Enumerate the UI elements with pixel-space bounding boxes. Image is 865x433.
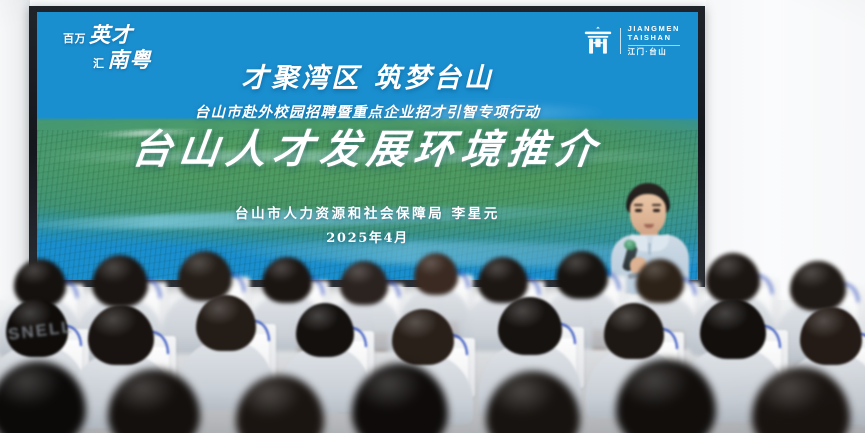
audience: SNELL bbox=[0, 243, 865, 433]
slide-content: 百万 英才 汇 南粤 bbox=[37, 12, 698, 280]
presenter-eye-right bbox=[653, 209, 660, 212]
presentation-photo-scene: 百万 英才 汇 南粤 bbox=[0, 0, 865, 433]
presenter-face bbox=[630, 194, 666, 234]
brand-logo: JIANGMEN TAISHAN 江门·台山 bbox=[583, 25, 680, 57]
audience-member-head bbox=[616, 359, 716, 433]
presenter-brow-left bbox=[634, 204, 643, 206]
slide-calligraphy-title: 台山人才发展环境推介 bbox=[37, 117, 698, 175]
audience-member-head bbox=[236, 375, 324, 433]
campaign-slogan-row-1: 百万 英才 bbox=[63, 24, 152, 45]
brand-divider bbox=[620, 28, 621, 54]
brand-english-line-2: TAISHAN bbox=[628, 34, 680, 43]
presentation-screen: 百万 英才 汇 南粤 bbox=[37, 12, 698, 280]
audience-member-head bbox=[352, 363, 448, 433]
presenter-eye-left bbox=[635, 209, 642, 212]
slide-credit-organization: 台山市人力资源和社会保障局 李星元 bbox=[37, 202, 698, 222]
slide-title-main: 才聚湾区 筑梦台山 bbox=[37, 56, 698, 95]
campaign-slogan-prefix-1: 百万 bbox=[63, 33, 86, 44]
brand-text: JIANGMEN TAISHAN 江门·台山 bbox=[628, 25, 680, 57]
campaign-slogan-emphasis-1: 英才 bbox=[89, 24, 133, 45]
presenter-brow-right bbox=[652, 204, 661, 206]
audience-member-head bbox=[108, 369, 200, 433]
audience-member-head bbox=[0, 361, 86, 433]
brand-chinese-line: 江门·台山 bbox=[628, 45, 680, 57]
audience-member-head bbox=[752, 367, 850, 433]
slide-headline-block: 才聚湾区 筑梦台山 台山市赴外校园招聘暨重点企业招才引智专项行动 bbox=[37, 56, 698, 122]
audience-member-head bbox=[486, 371, 580, 433]
slide-credits: 台山市人力资源和社会保障局 李星元 2025年4月 bbox=[37, 202, 698, 246]
gate-arch-icon bbox=[583, 26, 613, 56]
audience-row-front-row bbox=[0, 243, 865, 433]
